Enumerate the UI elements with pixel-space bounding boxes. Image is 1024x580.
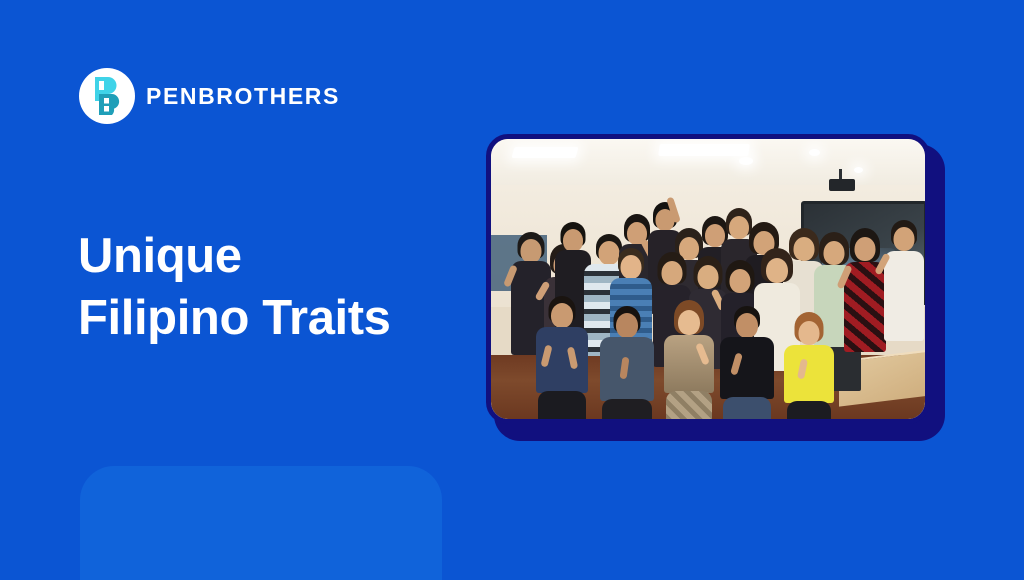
- group-photo-image: [491, 139, 925, 419]
- photo-room-background: [491, 139, 925, 419]
- page-title-line-2: Filipino Traits: [78, 287, 478, 349]
- person: [663, 303, 715, 419]
- logo-wordmark: PENBROTHERS: [146, 85, 340, 108]
- brand-logo[interactable]: PENBROTHERS: [79, 68, 340, 124]
- ceiling-light: [854, 167, 863, 173]
- ceiling-light: [739, 157, 753, 165]
- person: [783, 315, 835, 419]
- person: [599, 309, 655, 419]
- ceiling-light: [658, 144, 750, 156]
- ceiling-light: [809, 149, 820, 156]
- photo-frame: [486, 134, 930, 424]
- decorative-rounded-block: [80, 466, 442, 580]
- person: [535, 299, 589, 417]
- logo-monogram-badge: [79, 68, 135, 124]
- ceiling-projector: [829, 179, 855, 191]
- page-title-line-1: Unique: [78, 225, 478, 287]
- ceiling-light: [511, 147, 578, 158]
- slide-canvas: PENBROTHERS Unique Filipino Traits: [0, 0, 1024, 580]
- pb-monogram-icon: [87, 74, 127, 118]
- person: [883, 223, 925, 339]
- person: [843, 231, 887, 349]
- hero-photo-card: [486, 134, 945, 441]
- person: [719, 309, 775, 419]
- page-title: Unique Filipino Traits: [78, 225, 478, 349]
